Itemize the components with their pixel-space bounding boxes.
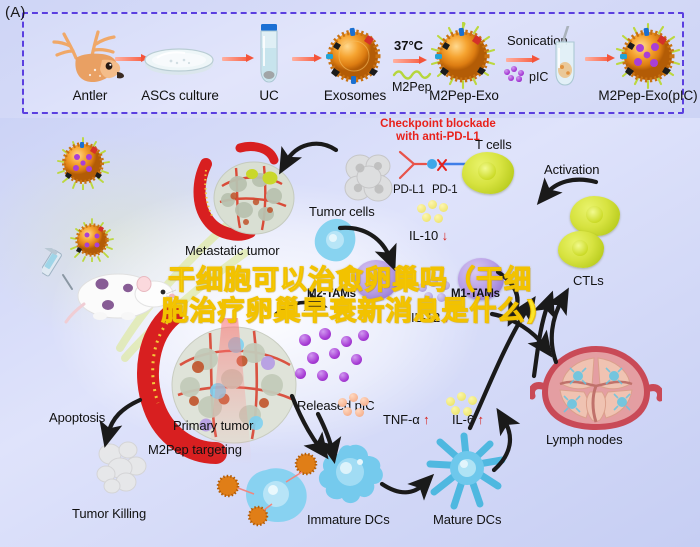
panel-a-letter: (A) xyxy=(5,4,26,21)
panel-b-label-tumor-killing: Tumor Killing xyxy=(72,506,146,521)
il-6-trend-arrow: ↑ xyxy=(478,412,484,427)
t-cell-1 xyxy=(462,152,514,194)
pic-dots-icon xyxy=(504,66,526,82)
il-6-name: IL-6 xyxy=(452,412,474,427)
il-10-name: IL-10 xyxy=(409,228,438,243)
apoptotic-cell-icon xyxy=(88,436,156,498)
centrifuge-tube-icon xyxy=(254,22,284,84)
process-arrow-3 xyxy=(292,54,322,63)
panel-b-label-apoptosis: Apoptosis xyxy=(49,410,105,425)
panel-b-label-pd-l1: PD-L1 xyxy=(393,184,425,196)
il-12-molecules xyxy=(418,278,458,306)
panel-a-label-exosomes: Exosomes xyxy=(316,88,394,103)
panel-b-label-ctls: CTLs xyxy=(573,273,604,288)
panel-b-label-primary-tumor: Primary tumor xyxy=(173,418,253,433)
process-arrow-2 xyxy=(222,54,254,63)
panel-a-annotation-temperature: 37°C xyxy=(394,38,423,53)
tnf-alpha-molecules xyxy=(338,393,376,421)
il-10-trend-arrow: ↓ xyxy=(442,228,448,243)
m2pep-peptide-icon xyxy=(392,66,434,80)
panel-b-label-m2-tams: M2-TAMs xyxy=(307,288,356,300)
process-arrow-5 xyxy=(506,55,540,64)
tnf-alpha-trend-arrow: ↑ xyxy=(423,412,429,427)
sonicator-tube-icon xyxy=(548,26,582,88)
panel-b-label-immature-dcs: Immature DCs xyxy=(307,512,390,527)
panel-a-label-uc: UC xyxy=(244,88,294,103)
panel-a-label-ascs-culture: ASCs culture xyxy=(128,88,232,103)
panel-b-label-pd-1: PD-1 xyxy=(432,184,457,196)
panel-b: Metastatic tumor Tumor cells Checkpo xyxy=(0,118,700,547)
process-arrow-4 xyxy=(393,56,427,65)
panel-a: Antler ASCs culture xyxy=(0,0,700,118)
panel-b-cytokine-il-10: IL-10 ↓ xyxy=(409,228,448,243)
ctl-cell-2 xyxy=(558,231,604,268)
injected-exosome-1 xyxy=(56,136,110,190)
panel-a-annotation-pic: pIC xyxy=(529,70,548,84)
exosome-peptide-icon xyxy=(429,22,497,90)
metastatic-tumor-illustration xyxy=(178,140,310,248)
mature-dc-cell xyxy=(424,430,510,512)
immature-dc-cell xyxy=(312,438,388,510)
il-12-name: IL-12 xyxy=(411,310,440,325)
checkpoint-line-1: Checkpoint blockade xyxy=(380,118,496,130)
panel-b-cytokine-il-6: IL-6 ↑ xyxy=(452,412,484,427)
panel-b-label-metastatic-tumor: Metastatic tumor xyxy=(185,243,280,258)
panel-a-label-antler: Antler xyxy=(42,88,138,103)
ctl-cell-1 xyxy=(570,196,620,236)
checkpoint-line-2: with anti-PD-L1 xyxy=(396,131,480,143)
lymph-node-illustration xyxy=(530,340,662,436)
exosome-loaded-icon xyxy=(614,22,682,90)
panel-b-label-lymph-nodes: Lymph nodes xyxy=(546,432,622,447)
exosome-icon xyxy=(322,24,386,88)
il-10-molecules xyxy=(417,200,453,226)
released-pic-molecules xyxy=(295,328,381,390)
panel-a-label-m2pep-exo-pic: M2Pep-Exo(pIC) xyxy=(592,88,700,103)
panel-b-cytokine-il-12: IL-12 ↑ xyxy=(411,310,450,325)
petri-dish-icon xyxy=(141,44,217,78)
panel-b-label-activation: Activation xyxy=(544,162,599,177)
panel-a-label-m2pep-exo: M2Pep-Exo xyxy=(412,88,516,103)
il-12-trend-arrow: ↑ xyxy=(444,310,450,325)
scientific-figure: Antler ASCs culture xyxy=(0,0,700,547)
process-arrow-6 xyxy=(585,54,615,63)
panel-b-label-t-cells: T cells xyxy=(475,137,512,152)
panel-b-label-mature-dcs: Mature DCs xyxy=(433,512,501,527)
m2-tam-cell-blue xyxy=(310,216,360,264)
tnf-alpha-name: TNF-α xyxy=(383,412,420,427)
m2-tam-cell-purple xyxy=(354,260,398,300)
panel-b-label-m1-tams: M1-TAMs xyxy=(451,288,500,300)
panel-b-cytokine-tnf-alpha: TNF-α ↑ xyxy=(383,412,430,427)
